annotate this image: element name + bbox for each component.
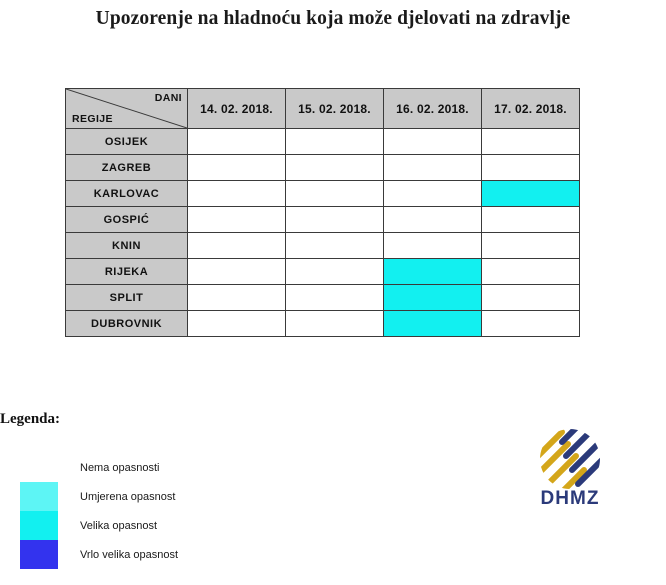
table-header-row: DANI REGIJE 14. 02. 2018. 15. 02. 2018. … bbox=[66, 89, 580, 129]
warning-cell-osijek-2 bbox=[286, 129, 384, 155]
legend-label-1: Umjerena opasnost bbox=[80, 491, 175, 503]
warning-cell-zagreb-3 bbox=[384, 155, 482, 181]
region-label-gospić: GOSPIĆ bbox=[66, 207, 188, 233]
dhmz-emblem-icon bbox=[518, 428, 622, 490]
dhmz-logo-text: DHMZ bbox=[518, 488, 622, 510]
legend-label-0: Nema opasnosti bbox=[80, 462, 160, 474]
legend-label-3: Vrlo velika opasnost bbox=[80, 549, 178, 561]
warning-cell-gospić-2 bbox=[286, 207, 384, 233]
legend-list: Nema opasnostiUmjerena opasnostVelika op… bbox=[20, 453, 178, 569]
column-header-date-2: 15. 02. 2018. bbox=[286, 89, 384, 129]
legend-item: Velika opasnost bbox=[20, 511, 178, 540]
table-row: KNIN bbox=[66, 233, 580, 259]
table-body: OSIJEKZAGREBKARLOVACGOSPIĆKNINRIJEKASPLI… bbox=[66, 129, 580, 337]
dhmz-logo: DHMZ bbox=[518, 428, 622, 516]
corner-regions-label: REGIJE bbox=[72, 113, 113, 125]
warning-cell-knin-4 bbox=[482, 233, 580, 259]
warning-cell-osijek-3 bbox=[384, 129, 482, 155]
region-label-rijeka: RIJEKA bbox=[66, 259, 188, 285]
warning-cell-split-1 bbox=[188, 285, 286, 311]
page-title: Upozorenje na hladnoću koja može djelova… bbox=[0, 8, 666, 30]
legend-title: Legenda: bbox=[0, 411, 60, 428]
region-label-zagreb: ZAGREB bbox=[66, 155, 188, 181]
warning-cell-rijeka-1 bbox=[188, 259, 286, 285]
table-row: OSIJEK bbox=[66, 129, 580, 155]
region-label-dubrovnik: DUBROVNIK bbox=[66, 311, 188, 337]
column-header-date-1: 14. 02. 2018. bbox=[188, 89, 286, 129]
warning-cell-karlovac-3 bbox=[384, 181, 482, 207]
table-row: SPLIT bbox=[66, 285, 580, 311]
column-header-date-3: 16. 02. 2018. bbox=[384, 89, 482, 129]
table-header: DANI REGIJE 14. 02. 2018. 15. 02. 2018. … bbox=[66, 89, 580, 129]
warning-cell-gospić-3 bbox=[384, 207, 482, 233]
warning-cell-knin-3 bbox=[384, 233, 482, 259]
warning-cell-knin-2 bbox=[286, 233, 384, 259]
table-row: ZAGREB bbox=[66, 155, 580, 181]
region-label-split: SPLIT bbox=[66, 285, 188, 311]
warning-cell-zagreb-4 bbox=[482, 155, 580, 181]
legend-swatch-2 bbox=[20, 511, 58, 540]
corner-header-cell: DANI REGIJE bbox=[66, 89, 188, 129]
warning-cell-gospić-4 bbox=[482, 207, 580, 233]
warning-cell-karlovac-1 bbox=[188, 181, 286, 207]
table-row: GOSPIĆ bbox=[66, 207, 580, 233]
warning-cell-split-2 bbox=[286, 285, 384, 311]
warning-cell-dubrovnik-3 bbox=[384, 311, 482, 337]
warning-cell-osijek-4 bbox=[482, 129, 580, 155]
column-header-date-4: 17. 02. 2018. bbox=[482, 89, 580, 129]
warning-cell-dubrovnik-2 bbox=[286, 311, 384, 337]
table-row: RIJEKA bbox=[66, 259, 580, 285]
warning-cell-karlovac-4 bbox=[482, 181, 580, 207]
warning-cell-dubrovnik-4 bbox=[482, 311, 580, 337]
legend-label-2: Velika opasnost bbox=[80, 520, 157, 532]
cold-warning-table: DANI REGIJE 14. 02. 2018. 15. 02. 2018. … bbox=[65, 88, 580, 337]
warning-cell-rijeka-2 bbox=[286, 259, 384, 285]
corner-days-label: DANI bbox=[155, 92, 182, 104]
legend-swatch-3 bbox=[20, 540, 58, 569]
warning-cell-gospić-1 bbox=[188, 207, 286, 233]
legend-item: Umjerena opasnost bbox=[20, 482, 178, 511]
legend-item: Nema opasnosti bbox=[20, 453, 178, 482]
warning-cell-zagreb-1 bbox=[188, 155, 286, 181]
warning-cell-osijek-1 bbox=[188, 129, 286, 155]
legend-swatch-1 bbox=[20, 482, 58, 511]
warning-cell-split-4 bbox=[482, 285, 580, 311]
region-label-knin: KNIN bbox=[66, 233, 188, 259]
warning-cell-karlovac-2 bbox=[286, 181, 384, 207]
region-label-osijek: OSIJEK bbox=[66, 129, 188, 155]
table-row: KARLOVAC bbox=[66, 181, 580, 207]
warning-cell-rijeka-4 bbox=[482, 259, 580, 285]
warning-cell-rijeka-3 bbox=[384, 259, 482, 285]
warning-cell-split-3 bbox=[384, 285, 482, 311]
warning-cell-knin-1 bbox=[188, 233, 286, 259]
table-row: DUBROVNIK bbox=[66, 311, 580, 337]
legend-swatch-0 bbox=[20, 453, 58, 482]
warning-cell-zagreb-2 bbox=[286, 155, 384, 181]
warning-cell-dubrovnik-1 bbox=[188, 311, 286, 337]
legend-item: Vrlo velika opasnost bbox=[20, 540, 178, 569]
region-label-karlovac: KARLOVAC bbox=[66, 181, 188, 207]
